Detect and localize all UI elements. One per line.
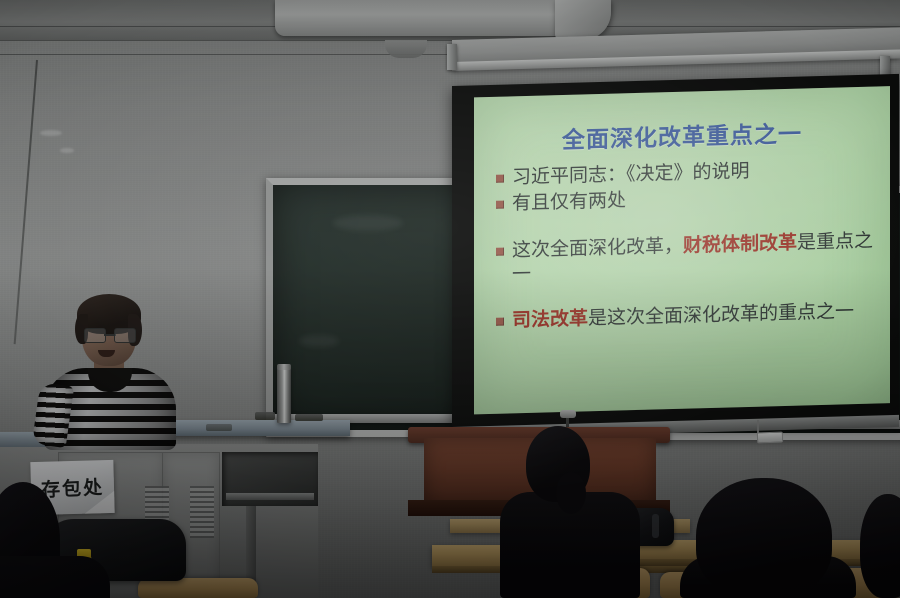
projected-slide: 全面深化改革重点之一 习近平同志：《决定》的说明 有且仅有两处 这次全面深化改革… (474, 86, 890, 414)
thermos-cap (277, 364, 291, 370)
lecture-hall-photo: 全面深化改革重点之一 习近平同志：《决定》的说明 有且仅有两处 这次全面深化改革… (0, 0, 900, 598)
backpack-strap-2 (652, 514, 659, 538)
glasses-lens-left (84, 328, 106, 343)
slide-bullet-3: 这次全面深化改革，财税体制改革是重点之一 (488, 229, 876, 288)
slide-bullet-3-text: 这次全面深化改革，财税体制改革是重点之一 (512, 229, 876, 287)
slide-bullet-3-highlight: 财税体制改革 (683, 232, 797, 256)
student-front-left-body (0, 556, 110, 598)
switch-stem (757, 420, 759, 433)
slide-content: 全面深化改革重点之一 习近平同志：《决定》的说明 有且仅有两处 这次全面深化改革… (474, 86, 890, 414)
thermos (277, 367, 291, 423)
desk-object-paper (206, 424, 232, 431)
glasses-icon (84, 328, 136, 341)
chalk-smudge-b (299, 335, 339, 347)
wall-switch[interactable] (757, 432, 783, 444)
desk-object-remote (295, 414, 323, 421)
chalk-smudge-a (333, 215, 403, 231)
bullet-marker-icon (496, 247, 504, 255)
slide-title: 全面深化改革重点之一 (488, 113, 876, 157)
student-far-right-hair (860, 494, 900, 598)
ceiling-duct-icon (275, 0, 565, 36)
student-center (500, 420, 640, 598)
glasses-lens-right (114, 328, 136, 343)
ceiling-beam-line-2 (0, 54, 452, 55)
bullet-marker-icon (496, 201, 504, 209)
student-right (676, 478, 856, 598)
slide-bullet-4: 司法改革是这次全面深化改革的重点之一 (488, 300, 876, 335)
desk-object-small (255, 412, 275, 420)
ceiling-lamp-icon (385, 40, 427, 58)
locker-vent-2 (190, 486, 214, 538)
roller-bracket-left (447, 44, 457, 70)
slide-bullet-4-post: 是这次全面深化改革的重点之一 (588, 301, 854, 329)
slide-bullet-4-text: 司法改革是这次全面深化改革的重点之一 (512, 300, 876, 334)
student-center-ponytail (556, 472, 586, 514)
wall-scuff-1 (40, 130, 62, 136)
sign-fold-corner (84, 491, 115, 514)
slide-bullet-3-pre: 这次全面深化改革， (512, 235, 683, 261)
bullet-marker-icon (496, 175, 504, 183)
presenter (36, 288, 188, 440)
desk-compartment-shelf (226, 493, 314, 500)
slide-bullet-4-highlight: 司法改革 (512, 309, 588, 332)
student-far-right (860, 494, 900, 598)
wall-scuff-2 (60, 148, 74, 153)
slide-bullet-list: 习近平同志：《决定》的说明 有且仅有两处 这次全面深化改革，财税体制改革是重点之… (488, 157, 876, 335)
chair-back-left (138, 578, 258, 598)
projector-screen: 全面深化改革重点之一 习近平同志：《决定》的说明 有且仅有两处 这次全面深化改革… (452, 74, 899, 431)
bullet-marker-icon (496, 318, 504, 326)
student-right-hair (696, 478, 832, 598)
microphone-icon (560, 410, 576, 418)
